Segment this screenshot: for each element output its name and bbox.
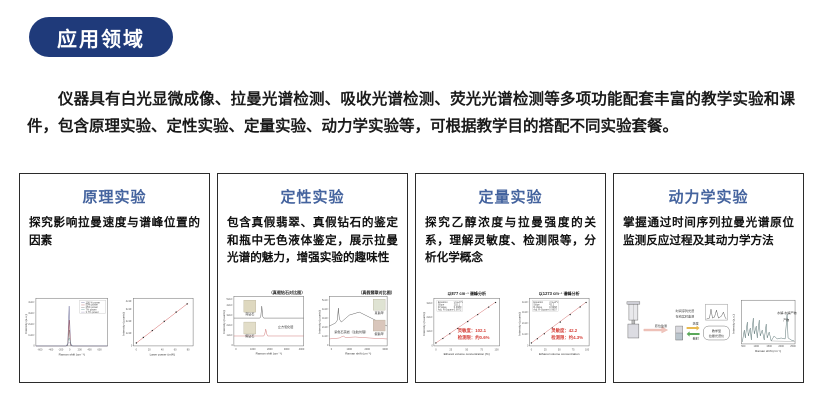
svg-text:3x10⁴: 3x10⁴: [426, 301, 432, 305]
svg-text:Intensity (counts): Intensity (counts): [422, 312, 426, 335]
svg-text:1000: 1000: [753, 345, 759, 348]
svg-text:Raman shift (cm⁻¹): Raman shift (cm⁻¹): [345, 351, 371, 355]
svg-text:Intensity (counts): Intensity (counts): [517, 312, 521, 335]
application-areas-page: 应用领域 仪器具有白光显微成像、拉曼光谱检测、吸收光谱检测、荧光光谱检测等多项功…: [0, 0, 819, 404]
svg-text:4x10⁴: 4x10⁴: [126, 299, 132, 303]
card-figure-qualitative: （真假钻石对比图） 真钻石 假钻石 立方氧化锆 01x10⁴ 2x10⁴3x10…: [218, 286, 407, 382]
svg-text:假钻石: 假钻石: [245, 333, 254, 338]
svg-text:激发: 激发: [693, 321, 699, 326]
svg-text:0: 0: [33, 345, 35, 348]
svg-text:0: 0: [235, 348, 237, 351]
svg-text:立方氧化锆: 立方氧化锆: [278, 324, 293, 329]
svg-text:假翡翠: 假翡翠: [375, 331, 384, 336]
svg-text:5x10⁴: 5x10⁴: [226, 297, 232, 301]
in-situ-arrow: 原位监测: [644, 323, 668, 333]
svg-text:0: 0: [232, 344, 234, 347]
svg-text:Raman shift (cm⁻¹): Raman shift (cm⁻¹): [59, 352, 85, 356]
svg-text:3000: 3000: [382, 348, 388, 351]
svg-text:0: 0: [435, 348, 437, 351]
card-figure-kinetics: 原位监测 时间序列光谱 在线实时监测: [614, 286, 803, 382]
svg-text:Raman shift (cm⁻¹): Raman shift (cm⁻¹): [755, 349, 781, 353]
card-title: 原理实验: [20, 186, 209, 207]
card-figure-quantitative: 以877 cm⁻¹ 谱峰分析 Equationy=a+b*: [416, 286, 605, 382]
svg-text:2x10⁴: 2x10⁴: [226, 323, 232, 327]
step-label-1: 时间序列光谱: [676, 308, 694, 313]
svg-text:0: 0: [136, 348, 138, 351]
svg-text:0: 0: [527, 344, 529, 347]
svg-text:40: 40: [161, 348, 164, 351]
card-description: 包含真假翡翠、真假钻石的鉴定和瓶中无色液体鉴定，展示拉曼光谱的魅力，增强实验的趣…: [227, 214, 398, 267]
svg-text:1x10⁴: 1x10⁴: [28, 333, 34, 337]
svg-text:3x10⁴: 3x10⁴: [126, 307, 132, 311]
svg-text:200: 200: [78, 348, 83, 351]
svg-text:Intensity (counts): Intensity (counts): [121, 312, 125, 335]
instrument-box: 教学型 拉曼光谱仪: [704, 326, 730, 340]
svg-text:3000: 3000: [284, 348, 290, 351]
svg-text:0: 0: [69, 348, 71, 351]
svg-text:2x10⁴: 2x10⁴: [426, 315, 432, 319]
card-title: 定量实验: [416, 186, 605, 207]
svg-text:Intensity (counts): Intensity (counts): [222, 310, 226, 333]
svg-text:80: 80: [187, 348, 190, 351]
svg-text:Ethanol volume concentration (: Ethanol volume concentration (%): [444, 352, 490, 356]
svg-text:1x10⁴: 1x10⁴: [522, 332, 528, 336]
experiment-card-list: 原理实验 探究影响拉曼速度与谱峰位置的因素: [19, 173, 804, 383]
svg-text:2x10⁴: 2x10⁴: [126, 319, 132, 323]
svg-text:真翡翠: 真翡翠: [375, 310, 384, 315]
svg-text:Laser power (mW): Laser power (mW): [150, 352, 175, 356]
svg-text:Intensity (a.u.): Intensity (a.u.): [24, 314, 28, 334]
svg-text:3.7% power: 3.7% power: [86, 311, 99, 314]
svg-text:水解-水解产物: 水解-水解产物: [777, 310, 797, 315]
svg-text:60: 60: [174, 348, 177, 351]
svg-text:-400: -400: [48, 348, 54, 351]
svg-text:1500: 1500: [766, 345, 772, 348]
svg-text:-200: -200: [58, 348, 64, 351]
svg-text:散射: 散射: [693, 335, 699, 340]
svg-text:4x10⁴: 4x10⁴: [522, 300, 528, 304]
svg-text:2x10⁴: 2x10⁴: [322, 325, 328, 329]
section-badge-label: 应用领域: [57, 23, 145, 52]
section-badge: 应用领域: [29, 17, 173, 57]
svg-text:Adj. R-Square: Adj. R-Square: [438, 309, 454, 312]
svg-text:3x10⁴: 3x10⁴: [522, 310, 528, 314]
svg-text:-600: -600: [37, 348, 43, 351]
lod-annotation-877: 检测限：约0.6%: [458, 334, 490, 341]
svg-text:0: 0: [131, 345, 133, 348]
experiment-card[interactable]: 定量实验 探究乙醇浓度与拉曼强度的关系，理解灵敏度、检测限等，分析化学概念 以8…: [415, 173, 606, 383]
card-description: 探究乙醇浓度与拉曼强度的关系，理解灵敏度、检测限等，分析化学概念: [425, 214, 596, 267]
svg-text:4x10⁴: 4x10⁴: [28, 300, 34, 304]
kinetics-schematic-svg: 原位监测 时间序列光谱 在线实时监测: [614, 286, 803, 382]
chart-title-877: 以877 cm⁻¹ 谱峰分析: [447, 290, 486, 296]
svg-text:500: 500: [741, 345, 746, 348]
step-label-2: 在线实时监测: [676, 314, 694, 319]
svg-text:1x10⁴: 1x10⁴: [322, 334, 328, 338]
svg-text:Adj. R-Square: Adj. R-Square: [533, 309, 549, 312]
svg-text:3x10⁴: 3x10⁴: [28, 311, 34, 315]
svg-text:0: 0: [331, 348, 333, 351]
svg-text:染色石英岩（注胶处理）: 染色石英岩（注胶处理）: [334, 329, 368, 334]
svg-text:真钻石: 真钻石: [245, 311, 254, 316]
experiment-card[interactable]: 动力学实验 掌握通过时间序列拉曼光谱原位监测反应过程及其动力学方法: [613, 173, 804, 383]
experiment-card[interactable]: 原理实验 探究影响拉曼速度与谱峰位置的因素: [19, 173, 210, 383]
svg-text:原位监测: 原位监测: [655, 323, 667, 328]
card-figure-principle: 100 % power 50% power 25% power 7% power…: [20, 286, 209, 382]
svg-text:Intensity (counts): Intensity (counts): [317, 310, 321, 333]
svg-text:3x10⁴: 3x10⁴: [322, 316, 328, 320]
svg-text:1x10⁴: 1x10⁴: [226, 333, 232, 337]
svg-text:1x10⁴: 1x10⁴: [126, 331, 132, 335]
lod-annotation-1273: 检测限：约4.3%: [551, 334, 583, 341]
svg-text:（真假翡翠对比图）: （真假翡翠对比图）: [358, 289, 395, 295]
principle-charts-svg: 100 % power 50% power 25% power 7% power…: [20, 286, 209, 382]
svg-text:Intensity (a.u.): Intensity (a.u.): [731, 314, 735, 334]
svg-text:Ethanol volume concentration: Ethanol volume concentration: [539, 352, 580, 356]
sensitivity-annotation-1273: 灵敏度：42.2: [551, 327, 577, 334]
card-title: 定性实验: [218, 186, 407, 207]
svg-text:（真假钻石对比图）: （真假钻石对比图）: [269, 289, 306, 295]
svg-text:Raman shift (cm⁻¹): Raman shift (cm⁻¹): [256, 351, 282, 355]
svg-text:拉曼光谱仪: 拉曼光谱仪: [709, 333, 724, 338]
svg-text:400: 400: [88, 348, 93, 351]
svg-text:0: 0: [327, 344, 329, 347]
quantitative-charts-svg: 以877 cm⁻¹ 谱峰分析 Equationy=a+b*: [416, 286, 605, 382]
svg-text:4000: 4000: [299, 348, 305, 351]
svg-text:4x10⁴: 4x10⁴: [226, 303, 232, 307]
svg-text:2500: 2500: [790, 345, 796, 348]
card-description: 掌握通过时间序列拉曼光谱原位监测反应过程及其动力学方法: [623, 214, 794, 249]
qualitative-charts-svg: （真假钻石对比图） 真钻石 假钻石 立方氧化锆 01x10⁴ 2x10⁴3x10…: [218, 286, 407, 382]
svg-text:100: 100: [495, 348, 500, 351]
svg-text:2x10⁴: 2x10⁴: [28, 322, 34, 326]
svg-text:20: 20: [148, 348, 151, 351]
svg-text:0: 0: [432, 344, 434, 347]
svg-text:0: 0: [531, 348, 533, 351]
sensitivity-annotation-877: 灵敏度：102.1: [458, 327, 487, 334]
card-description: 探究影响拉曼速度与谱峰位置的因素: [29, 214, 200, 249]
intro-paragraph: 仪器具有白光显微成像、拉曼光谱检测、吸收光谱检测、荧光光谱检测等多项功能配套丰富…: [27, 86, 795, 140]
svg-text:4x10⁴: 4x10⁴: [322, 307, 328, 311]
svg-text:600: 600: [98, 348, 103, 351]
svg-text:3x10⁴: 3x10⁴: [226, 313, 232, 317]
svg-text:100: 100: [585, 348, 590, 351]
card-title: 动力学实验: [614, 186, 803, 207]
svg-text:0.9972: 0.9972: [454, 309, 462, 312]
chart-title-1273: 以1273 cm⁻¹ 谱峰分析: [539, 290, 580, 296]
svg-text:1x10⁴: 1x10⁴: [426, 329, 432, 333]
experiment-card[interactable]: 定性实验 包含真假翡翠、真假钻石的鉴定和瓶中无色液体鉴定，展示拉曼光谱的魅力，增…: [217, 173, 408, 383]
svg-text:2000: 2000: [778, 345, 784, 348]
svg-text:教学型: 教学型: [712, 328, 721, 333]
svg-text:5x10⁴: 5x10⁴: [322, 298, 328, 302]
svg-text:产物: 产物: [783, 317, 789, 322]
svg-text:2x10⁴: 2x10⁴: [522, 321, 528, 325]
reactor-icon: [627, 302, 640, 338]
svg-text:0.9957: 0.9957: [549, 309, 557, 312]
